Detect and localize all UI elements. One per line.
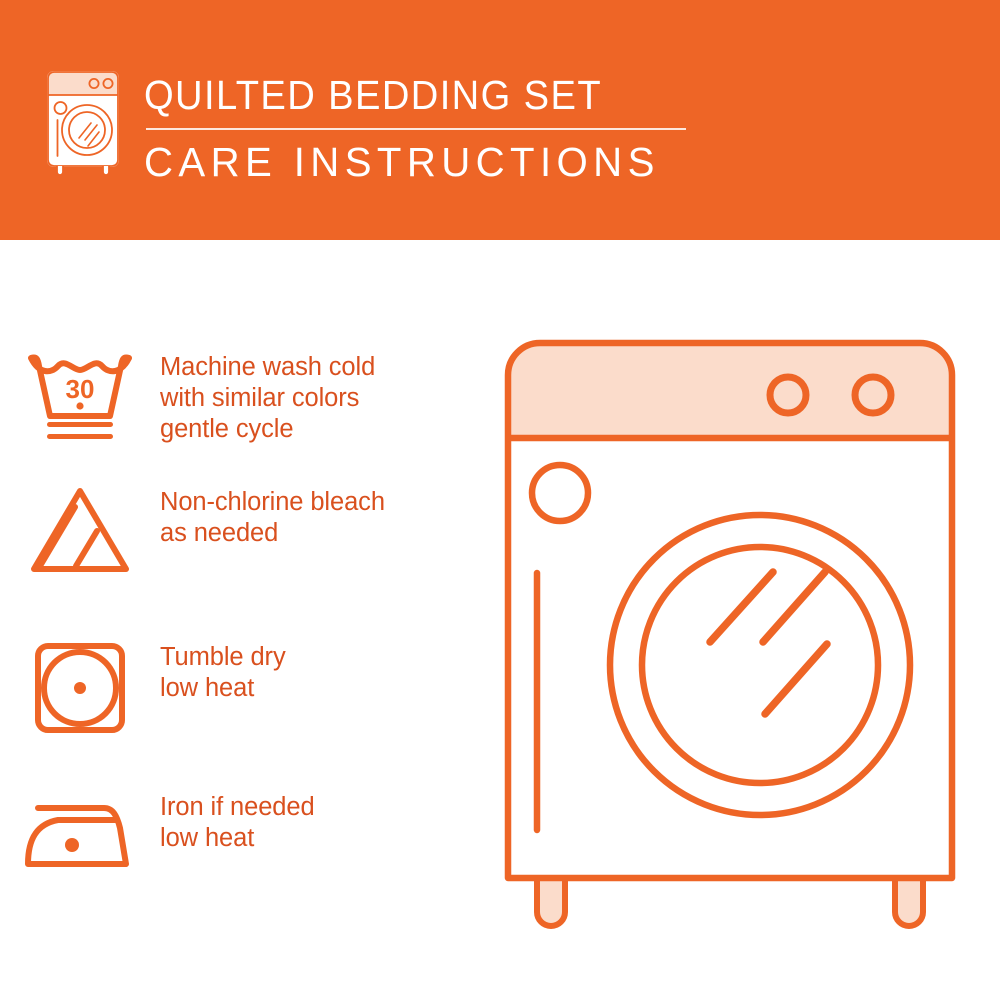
page-subtitle: CARE INSTRUCTIONS <box>144 138 752 186</box>
care-item-label: Non-chlorine bleach as needed <box>160 485 385 549</box>
leg-left <box>537 878 565 926</box>
care-item-label: Tumble dry low heat <box>160 640 286 704</box>
door-stripe-1 <box>710 572 773 642</box>
care-instruction-list: 30 Machine wash cold with similar colors… <box>0 240 500 1000</box>
leg-right <box>895 878 923 926</box>
door-outer-ring <box>610 515 910 815</box>
door-stripe-2 <box>763 572 825 642</box>
care-item-tumble-dry: Tumble dry low heat <box>0 640 500 736</box>
washing-machine-icon <box>44 68 122 176</box>
care-item-label: Iron if needed low heat <box>160 790 315 854</box>
title-divider <box>146 128 686 130</box>
header-text-block: QUILTED BEDDING SET CARE INSTRUCTIONS <box>144 72 764 186</box>
care-item-bleach: Non-chlorine bleach as needed <box>0 485 500 575</box>
bleach-triangle-icon <box>0 485 160 575</box>
care-item-label: Machine wash cold with similar colors ge… <box>160 350 375 445</box>
washing-machine-illustration <box>495 330 965 940</box>
svg-text:30: 30 <box>66 374 95 404</box>
page-title: QUILTED BEDDING SET <box>144 72 721 118</box>
tumble-dry-icon <box>0 640 160 736</box>
detergent-port-circle <box>532 465 588 521</box>
iron-icon <box>0 790 160 876</box>
wash-tub-30-icon: 30 <box>0 350 160 446</box>
header-banner: QUILTED BEDDING SET CARE INSTRUCTIONS <box>0 0 1000 240</box>
door-stripe-3 <box>765 644 827 714</box>
care-item-iron: Iron if needed low heat <box>0 790 500 876</box>
care-item-machine-wash: 30 Machine wash cold with similar colors… <box>0 350 500 446</box>
